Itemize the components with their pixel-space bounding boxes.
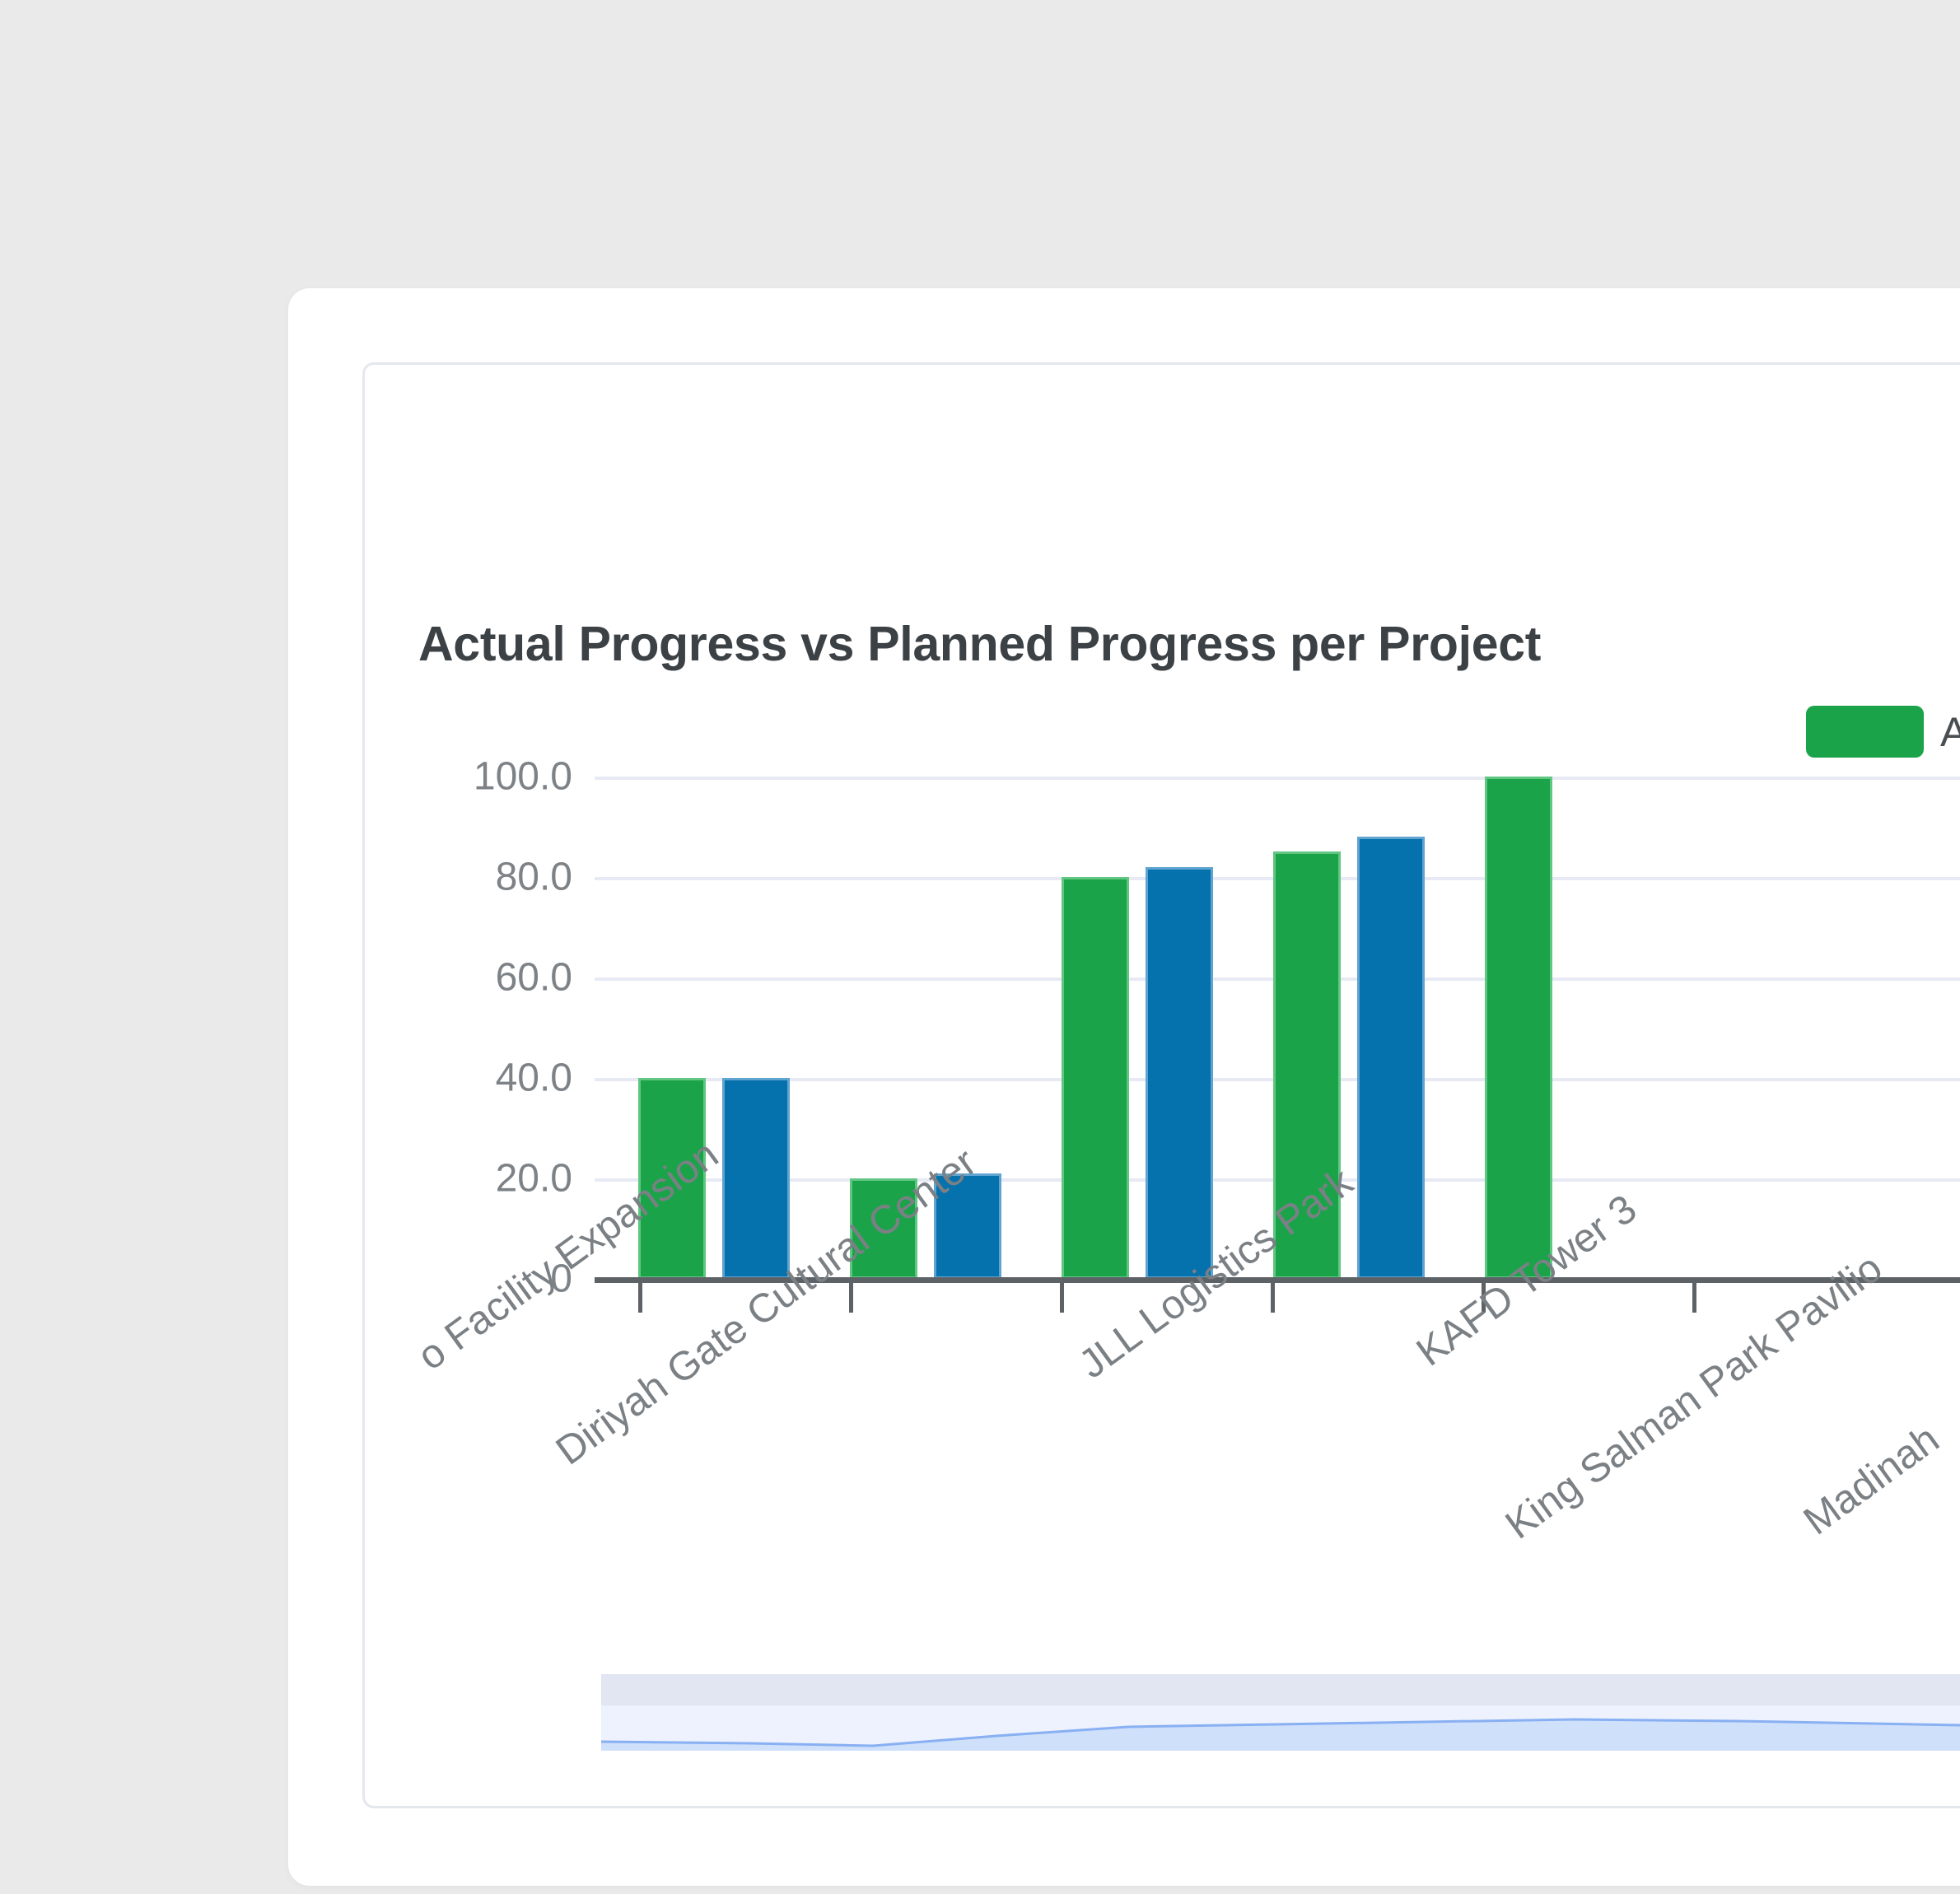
bar-actual-4[interactable] — [1485, 777, 1552, 1279]
chart-legend: A — [1806, 706, 1960, 758]
x-tick-2 — [1060, 1283, 1064, 1313]
y-tick-label-100: 100.0 — [395, 754, 572, 800]
x-tick-1 — [849, 1283, 853, 1313]
bar-planned-2[interactable] — [1146, 867, 1213, 1279]
chart-range-selector[interactable] — [601, 1674, 1960, 1751]
y-tick-label-40: 40.0 — [395, 1056, 572, 1101]
chart-title: Actual Progress vs Planned Progress per … — [418, 616, 1541, 672]
x-tick-0 — [638, 1283, 642, 1313]
x-tick-5 — [1692, 1283, 1696, 1313]
bar-planned-3[interactable] — [1357, 837, 1425, 1279]
y-tick-label-20: 20.0 — [395, 1156, 572, 1201]
bar-actual-2[interactable] — [1062, 877, 1129, 1279]
range-selector-preview-chart — [601, 1705, 1960, 1751]
gridline-100 — [595, 777, 1960, 780]
x-tick-3 — [1271, 1283, 1275, 1313]
y-tick-label-80: 80.0 — [395, 855, 572, 900]
range-selector-handle-band[interactable] — [601, 1674, 1960, 1705]
bar-planned-0[interactable] — [722, 1078, 790, 1279]
screen-root: Actual Progress vs Planned Progress per … — [0, 0, 1960, 1894]
y-tick-label-60: 60.0 — [395, 955, 572, 1001]
legend-swatch-actual[interactable] — [1806, 706, 1924, 758]
legend-label-actual[interactable]: A — [1940, 708, 1960, 756]
